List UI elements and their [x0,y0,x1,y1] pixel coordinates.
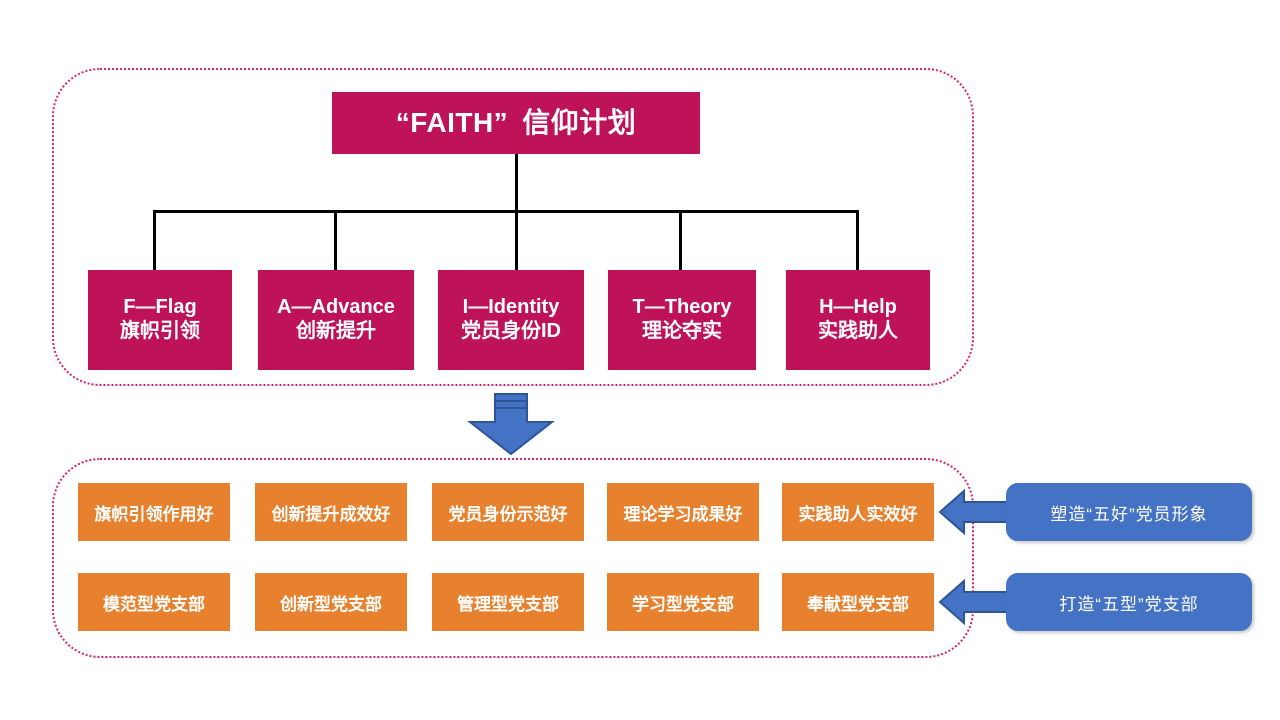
pillar-label: 旗帜引领 [120,320,200,344]
left-arrow-icon-goal-2 [938,579,1010,625]
pillar-box-help[interactable]: H—Help 实践助人 [786,270,930,370]
pillar-box-theory[interactable]: T—Theory 理论夺实 [608,270,756,370]
connector-drop-4 [679,210,682,270]
faith-title-chinese: 信仰计划 [522,106,636,139]
left-arrow-icon-goal-1 [938,489,1010,535]
faith-title-box[interactable]: “FAITH” 信仰计划 [332,92,700,154]
outcome-box[interactable]: 创新提升成效好 [255,483,407,541]
connector-drop-2 [334,210,337,270]
diagram-canvas: “FAITH” 信仰计划 F—Flag 旗帜引领 A—Advance 创新提升 … [0,0,1280,720]
pillar-code: T—Theory [633,296,732,320]
connector-drop-3 [515,210,518,270]
outcome-box[interactable]: 旗帜引领作用好 [78,483,230,541]
goal-box-five-type-branch[interactable]: 打造“五型”党支部 [1006,573,1252,631]
pillar-box-identity[interactable]: I—Identity 党员身份ID [438,270,584,370]
outcome-box[interactable]: 模范型党支部 [78,573,230,631]
pillar-code: F—Flag [123,296,196,320]
pillar-code: I—Identity [463,296,560,320]
connector-horizontal-bar [153,210,859,213]
pillar-box-advance[interactable]: A—Advance 创新提升 [258,270,414,370]
outcome-box[interactable]: 管理型党支部 [432,573,584,631]
connector-drop-5 [856,210,859,270]
pillar-code: H—Help [819,296,897,320]
outcome-box[interactable]: 党员身份示范好 [432,483,584,541]
outcome-box[interactable]: 理论学习成果好 [607,483,759,541]
goal-box-five-good-member[interactable]: 塑造“五好”党员形象 [1006,483,1252,541]
outcome-box[interactable]: 创新型党支部 [255,573,407,631]
pillar-box-flag[interactable]: F—Flag 旗帜引领 [88,270,232,370]
faith-title-english: “FAITH” [396,106,508,139]
pillar-label: 实践助人 [818,320,898,344]
outcome-box[interactable]: 学习型党支部 [607,573,759,631]
pillar-code: A—Advance [277,296,395,320]
outcome-box[interactable]: 奉献型党支部 [782,573,934,631]
connector-drop-1 [153,210,156,270]
pillar-label: 理论夺实 [642,320,722,344]
pillar-label: 党员身份ID [461,320,561,344]
outcome-box[interactable]: 实践助人实效好 [782,483,934,541]
pillar-label: 创新提升 [296,320,376,344]
connector-vertical-stem [515,154,518,212]
down-arrow-icon [468,392,554,456]
